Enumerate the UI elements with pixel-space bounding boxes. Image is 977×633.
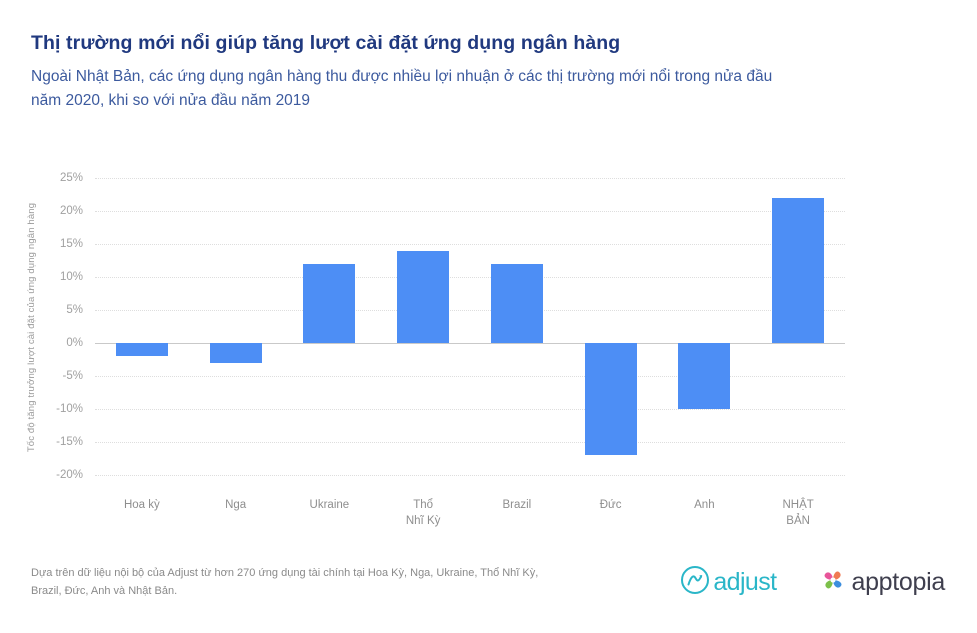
page-title: Thị trường mới nổi giúp tăng lượt cài đặ… — [31, 30, 831, 56]
bar — [678, 343, 730, 409]
chart-region: Tốc độ tăng trưởng lượt cài đặt của ứng … — [0, 160, 977, 530]
bar — [772, 198, 824, 343]
y-axis-tick-label: -15% — [56, 436, 83, 448]
y-axis-tick-label: 20% — [60, 205, 83, 217]
bar-series — [95, 160, 845, 500]
apptopia-pinwheel-icon — [818, 565, 848, 600]
y-axis-tick-label: 0% — [66, 337, 83, 349]
bar — [303, 264, 355, 343]
apptopia-logo: apptopia — [818, 565, 945, 600]
bar — [585, 343, 637, 455]
y-axis-tick-label: 25% — [60, 172, 83, 184]
y-axis-tick-label: -20% — [56, 469, 83, 481]
y-axis-tick-label: -5% — [63, 370, 83, 382]
x-axis-label: NHẬT BẢN — [743, 497, 853, 529]
bar — [210, 343, 262, 363]
y-axis-tick-label: -10% — [56, 403, 83, 415]
bar — [116, 343, 168, 356]
y-axis-title: Tốc độ tăng trưởng lượt cài đặt của ứng … — [24, 168, 40, 486]
y-axis-tick-label: 10% — [60, 271, 83, 283]
chart-subtitle: Ngoài Nhật Bản, các ứng dụng ngân hàng t… — [31, 65, 791, 112]
adjust-mark-icon — [680, 565, 710, 600]
logo-group: adjust apptopia — [680, 565, 945, 600]
apptopia-wordmark: apptopia — [851, 570, 945, 595]
plot-area: 25%20%15%10%5%0%-5%-10%-15%-20% Hoa kỳNg… — [95, 160, 845, 500]
y-axis-tick-label: 5% — [66, 304, 83, 316]
chart-footer: Dựa trên dữ liệu nội bộ của Adjust từ hơ… — [31, 565, 945, 615]
bar — [491, 264, 543, 343]
bar — [397, 251, 449, 343]
chart-header: Thị trường mới nổi giúp tăng lượt cài đặ… — [31, 30, 831, 112]
y-axis-tick-label: 15% — [60, 238, 83, 250]
adjust-wordmark: adjust — [713, 570, 776, 595]
adjust-logo: adjust — [680, 565, 776, 600]
chart-page: Thị trường mới nổi giúp tăng lượt cài đặ… — [0, 0, 977, 633]
y-axis-title-text: Tốc độ tăng trưởng lượt cài đặt của ứng … — [27, 202, 38, 451]
footnote-text: Dựa trên dữ liệu nội bộ của Adjust từ hơ… — [31, 565, 551, 600]
